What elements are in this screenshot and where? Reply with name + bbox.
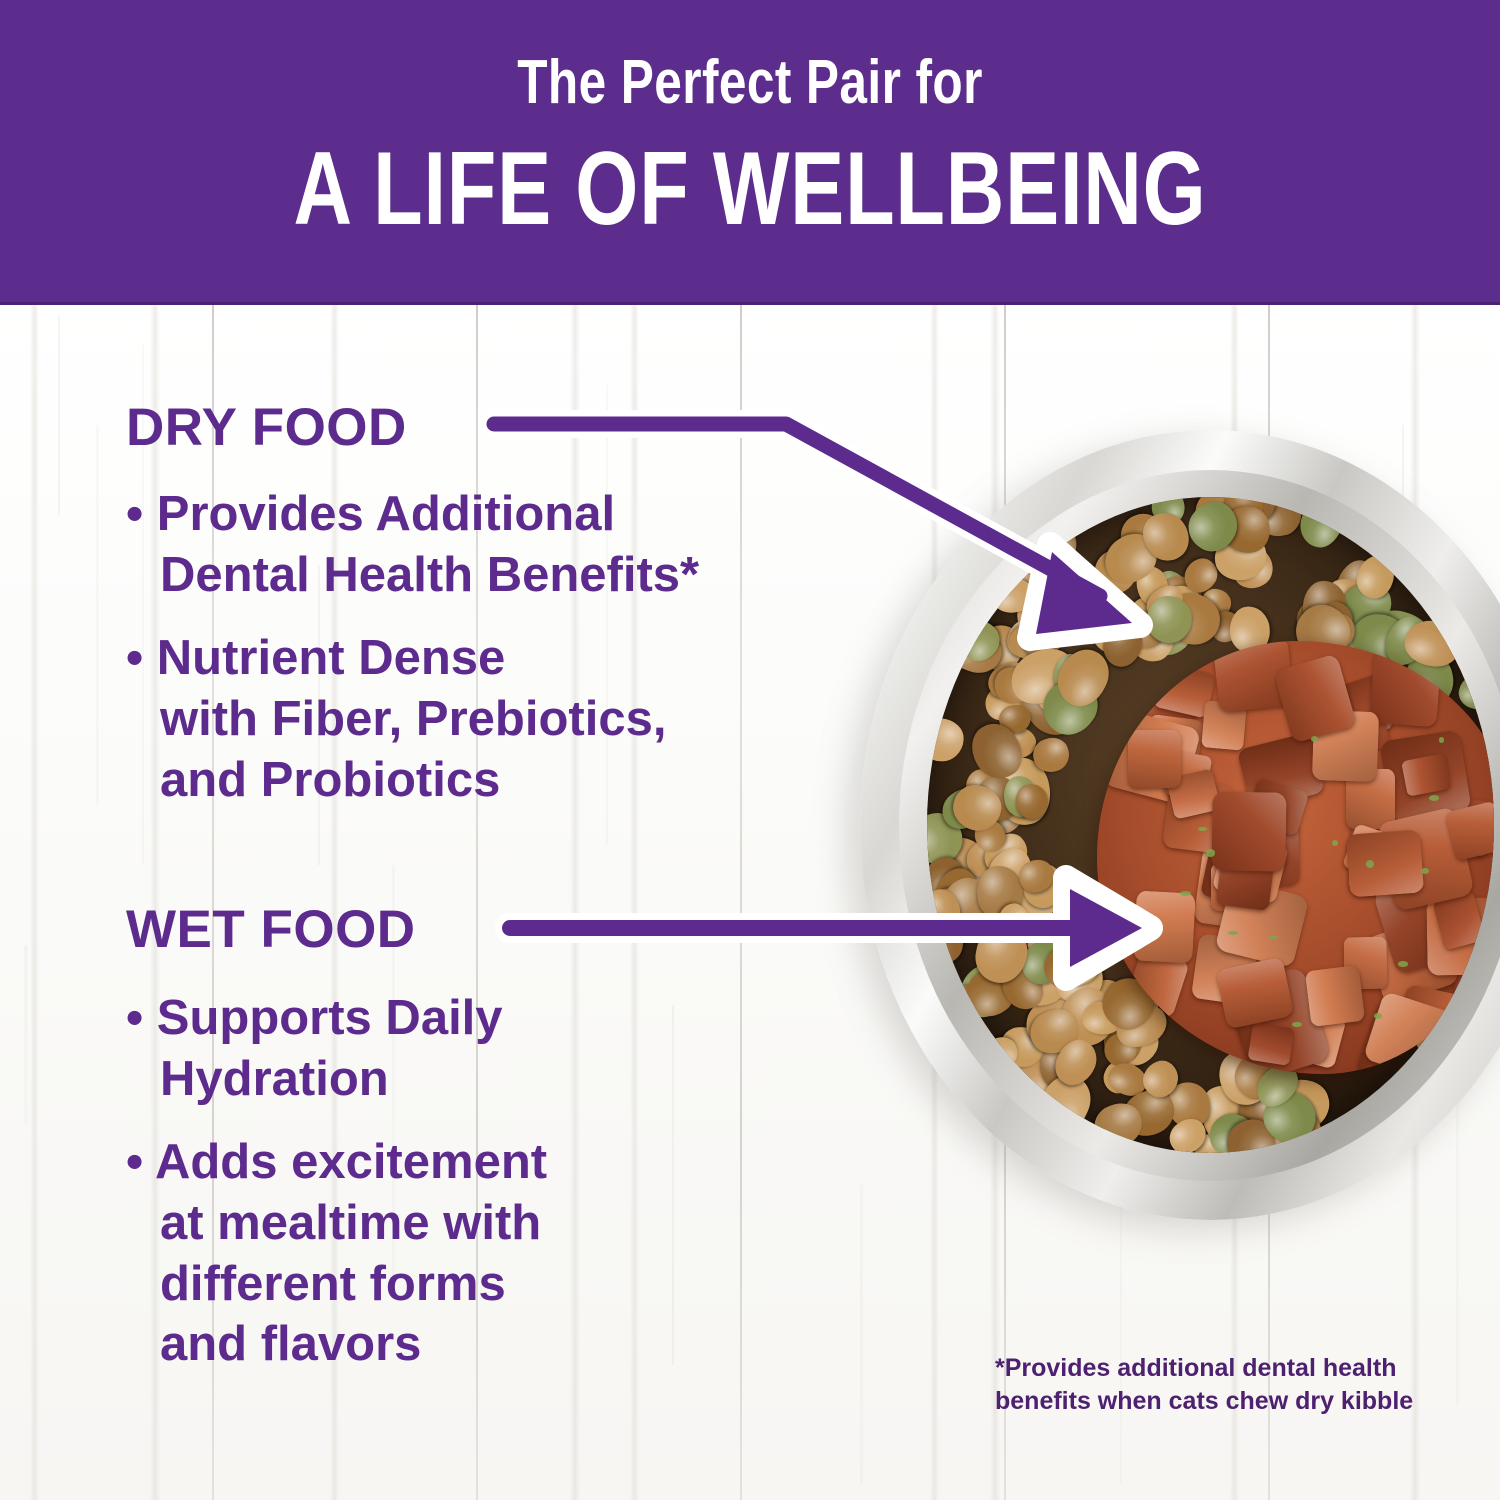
section-label-wet-food: WET FOOD	[126, 903, 416, 956]
infographic-page: The Perfect Pair for A LIFE OF WELLBEING	[0, 0, 1500, 1500]
dry-food-bullet-2: • Nutrient Dense with Fiber, Prebiotics,…	[126, 628, 860, 810]
wet-food-bullet-2: • Adds excitement at mealtime with diffe…	[126, 1132, 860, 1375]
section-label-dry-food: DRY FOOD	[126, 401, 407, 454]
dry-food-bullet-1: • Provides Additional Dental Health Bene…	[126, 484, 860, 606]
footnote-text: *Provides additional dental health benef…	[995, 1352, 1435, 1417]
wet-food-bullet-1: • Supports Daily Hydration	[126, 988, 860, 1110]
